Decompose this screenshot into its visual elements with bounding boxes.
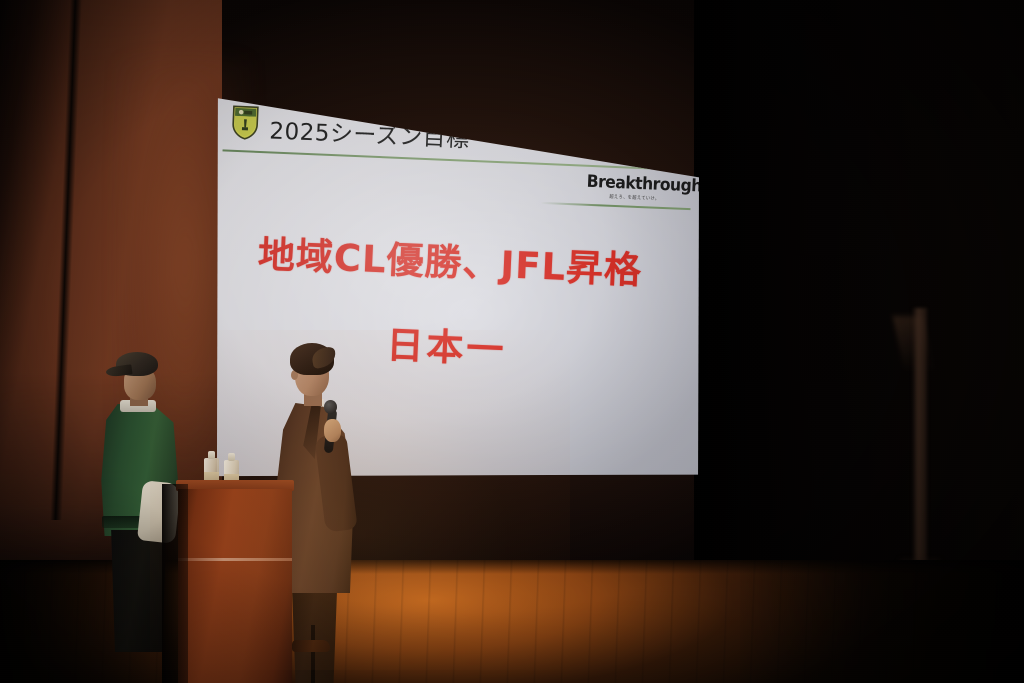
breakthrough-wordmark: Breakthrough bbox=[586, 174, 683, 195]
slide-headline: 地域CL優勝、JFL昇格 bbox=[207, 222, 693, 296]
presenter-shoe bbox=[292, 640, 330, 652]
trouser-leg-split bbox=[311, 625, 315, 683]
presenter-hand bbox=[324, 419, 341, 442]
microphone-head-icon bbox=[324, 400, 337, 414]
breakthrough-brand-mark: Breakthrough 超えろ、を超えていけ。 bbox=[582, 174, 688, 203]
wooden-lectern bbox=[176, 480, 294, 683]
lectern-trim-line bbox=[178, 558, 292, 561]
club-crest-shield-icon bbox=[231, 105, 259, 141]
assistant-lower-body bbox=[106, 530, 170, 652]
breakthrough-divider bbox=[541, 202, 691, 210]
stage-presentation-photo: 2025シーズン目標 Breakthrough 超えろ、を超えていけ。 地域CL… bbox=[0, 0, 1024, 683]
lectern-side-shadow bbox=[162, 484, 188, 683]
floor-shadow-right bbox=[740, 560, 1024, 683]
lectern-body bbox=[178, 489, 292, 683]
